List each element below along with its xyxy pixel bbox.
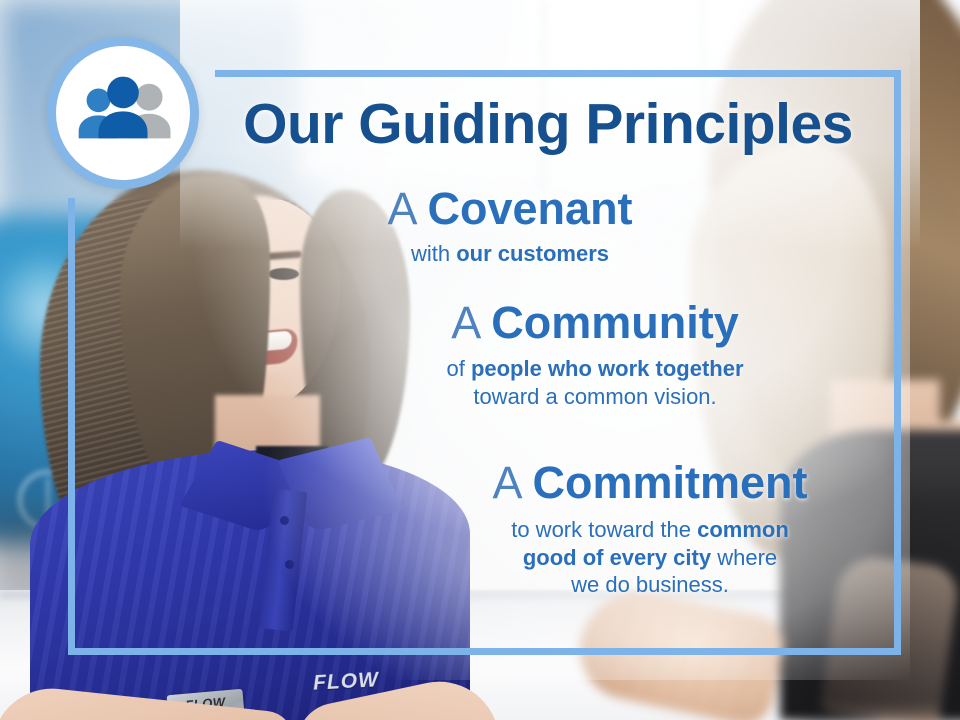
plain-text: with [411,241,456,266]
principle-heading: A Covenant [300,186,720,232]
page-title: Our Guiding Principles [218,96,878,153]
emphasis-text: our customers [456,241,609,266]
principle-keyword: Covenant [428,183,633,234]
principle-article: A [387,183,415,234]
emphasis-text: people who work together [471,356,744,381]
plain-text: where [711,545,777,570]
principle-subtext: with our customers [300,240,720,268]
emphasis-text: good of every city [523,545,711,570]
principle-keyword: Community [491,297,739,348]
principle-subtext-line: good of every city where [420,544,880,572]
principle-subtext-line: toward a common vision. [370,383,820,411]
banner-canvas: FLOW FLOW ALYSSA SCHWARTZ [0,0,960,720]
principle-heading: A Commitment [420,460,880,506]
principle-subtext-line: of people who work together [370,355,820,383]
principle-block-community: A Community of people who work togethert… [370,300,820,410]
principle-block-commitment: A Commitment to work toward the commongo… [420,460,880,599]
principle-keyword: Commitment [533,457,808,508]
principle-heading: A Community [370,300,820,346]
principle-article: A [492,457,520,508]
plain-text: we do business. [571,572,729,597]
emphasis-text: common [697,517,789,542]
principle-subtext-line: with our customers [300,240,720,268]
plain-text: toward a common vision. [473,384,716,409]
principle-subtext-line: we do business. [420,571,880,599]
principle-subtext: of people who work togethertoward a comm… [370,355,820,410]
plain-text: of [446,356,470,381]
principle-subtext: to work toward the commongood of every c… [420,516,880,599]
principle-block-covenant: A Covenant with our customers [300,186,720,268]
principle-article: A [451,297,479,348]
plain-text: to work toward the [511,517,697,542]
text-content: Our Guiding Principles A Covenant with o… [0,0,960,720]
principle-subtext-line: to work toward the common [420,516,880,544]
